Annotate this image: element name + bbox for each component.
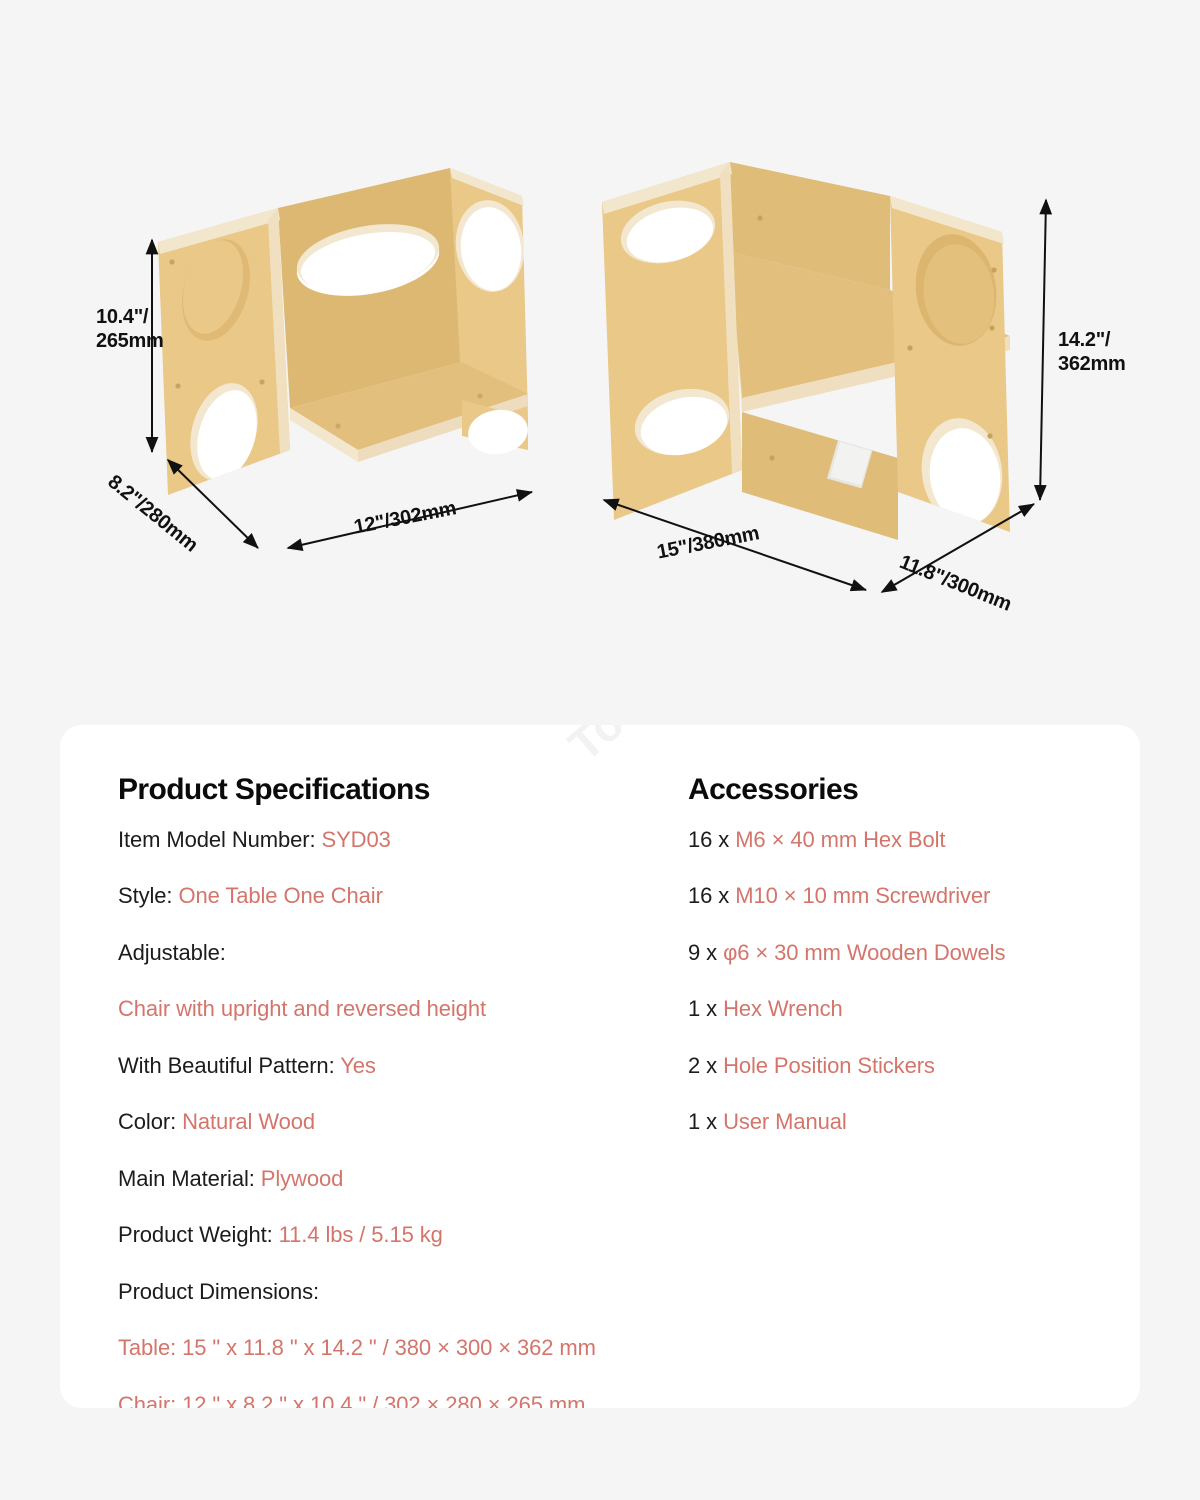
accessory-quantity: 9 x bbox=[688, 940, 723, 965]
spec-label: Color: bbox=[118, 1109, 182, 1134]
accessory-item: M10 × 10 mm Screwdriver bbox=[735, 883, 990, 908]
accessory-row: 16 x M6 × 40 mm Hex Bolt bbox=[688, 825, 1118, 854]
accessory-item: M6 × 40 mm Hex Bolt bbox=[735, 827, 945, 852]
specifications-heading: Product Specifications bbox=[118, 773, 688, 807]
accessory-row: 1 x User Manual bbox=[688, 1107, 1118, 1136]
spec-value: Yes bbox=[340, 1053, 376, 1078]
chair-height-label: 10.4"/ 265mm bbox=[96, 305, 163, 354]
accessory-item: φ6 × 30 mm Wooden Dowels bbox=[723, 940, 1005, 965]
spec-row: Chair with upright and reversed height bbox=[118, 994, 688, 1023]
spec-row: Product Dimensions: bbox=[118, 1277, 688, 1306]
spec-label: Adjustable: bbox=[118, 940, 226, 965]
spec-label: Main Material: bbox=[118, 1166, 261, 1191]
table-illustration bbox=[590, 140, 1050, 590]
spec-row: Chair: 12 " x 8.2 " x 10.4 " / 302 × 280… bbox=[118, 1390, 688, 1408]
spec-label: Product Weight: bbox=[118, 1222, 279, 1247]
table-lower-divider bbox=[742, 412, 898, 540]
accessories-column: Accessories 16 x M6 × 40 mm Hex Bolt16 x… bbox=[688, 773, 1118, 1408]
accessory-row: 1 x Hex Wrench bbox=[688, 994, 1118, 1023]
accessory-quantity: 1 x bbox=[688, 1109, 723, 1134]
table-height-label: 14.2"/ 362mm bbox=[1058, 328, 1125, 377]
spec-row: Table: 15 " x 11.8 " x 14.2 " / 380 × 30… bbox=[118, 1333, 688, 1362]
spec-row: Adjustable: bbox=[118, 938, 688, 967]
chair-left-panel bbox=[158, 208, 290, 495]
spec-label: Product Dimensions: bbox=[118, 1279, 319, 1304]
accessory-item: User Manual bbox=[723, 1109, 847, 1134]
spec-label: Item Model Number: bbox=[118, 827, 322, 852]
spec-value: Natural Wood bbox=[182, 1109, 315, 1134]
spec-value: Plywood bbox=[261, 1166, 343, 1191]
chair-product-image bbox=[150, 150, 550, 570]
spec-value: Chair with upright and reversed height bbox=[118, 996, 486, 1021]
accessories-heading: Accessories bbox=[688, 773, 1118, 807]
spec-row: Product Weight: 11.4 lbs / 5.15 kg bbox=[118, 1220, 688, 1249]
spec-row: Main Material: Plywood bbox=[118, 1164, 688, 1193]
spec-row: Color: Natural Wood bbox=[118, 1107, 688, 1136]
accessory-quantity: 16 x bbox=[688, 827, 735, 852]
table-product-image bbox=[590, 140, 1050, 590]
accessory-row: 16 x M10 × 10 mm Screwdriver bbox=[688, 881, 1118, 910]
spec-row: Item Model Number: SYD03 bbox=[118, 825, 688, 854]
table-left-panel bbox=[602, 162, 742, 520]
spec-value: 11.4 lbs / 5.15 kg bbox=[279, 1222, 443, 1247]
accessory-row: 2 x Hole Position Stickers bbox=[688, 1051, 1118, 1080]
accessory-item: Hole Position Stickers bbox=[723, 1053, 935, 1078]
card-columns: Product Specifications Item Model Number… bbox=[60, 725, 1140, 1408]
accessory-quantity: 16 x bbox=[688, 883, 735, 908]
accessory-item: Hex Wrench bbox=[723, 996, 843, 1021]
table-right-panel bbox=[890, 196, 1010, 532]
spec-label: With Beautiful Pattern: bbox=[118, 1053, 340, 1078]
spec-value: Table: 15 " x 11.8 " x 14.2 " / 380 × 30… bbox=[118, 1335, 596, 1360]
accessory-quantity: 1 x bbox=[688, 996, 723, 1021]
product-images-area: 10.4"/ 265mm 8.2"/280mm 12"/302mm 14.2"/… bbox=[0, 0, 1200, 700]
spec-value: Chair: 12 " x 8.2 " x 10.4 " / 302 × 280… bbox=[118, 1392, 585, 1408]
spec-value: One Table One Chair bbox=[178, 883, 382, 908]
spec-value: SYD03 bbox=[322, 827, 391, 852]
spec-label: Style: bbox=[118, 883, 178, 908]
chair-illustration bbox=[150, 150, 550, 570]
accessory-quantity: 2 x bbox=[688, 1053, 723, 1078]
specifications-list: Item Model Number: SYD03Style: One Table… bbox=[118, 825, 688, 1408]
spec-row: Style: One Table One Chair bbox=[118, 881, 688, 910]
product-specifications-column: Product Specifications Item Model Number… bbox=[118, 773, 688, 1408]
accessories-list: 16 x M6 × 40 mm Hex Bolt16 x M10 × 10 mm… bbox=[688, 825, 1118, 1137]
spec-row: With Beautiful Pattern: Yes bbox=[118, 1051, 688, 1080]
specifications-card: Toolooth Product Specifications Item Mod… bbox=[60, 725, 1140, 1408]
accessory-row: 9 x φ6 × 30 mm Wooden Dowels bbox=[688, 938, 1118, 967]
